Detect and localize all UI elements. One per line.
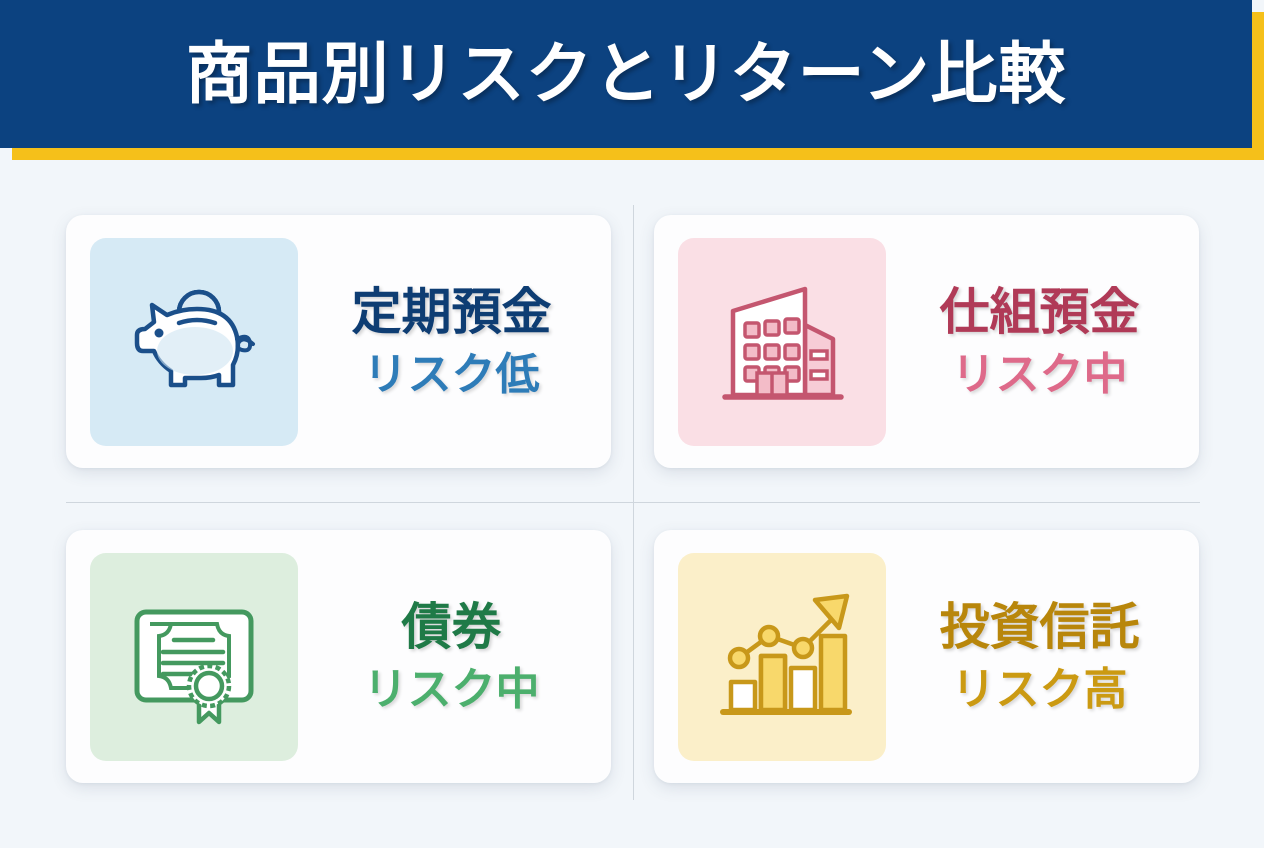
office-building-icon: [707, 267, 857, 417]
card-title: 仕組預金: [940, 287, 1140, 337]
header: 商品別リスクとリターン比較: [0, 0, 1264, 175]
icon-tile-deposit: [90, 238, 298, 446]
card-investment-trust[interactable]: 投資信託 リスク高: [654, 530, 1199, 783]
icon-tile-structured: [678, 238, 886, 446]
card-text-structured: 仕組預金 リスク中: [886, 287, 1199, 397]
page-title: 商品別リスクとリターン比較: [186, 41, 1067, 108]
card-text-fund: 投資信託 リスク高: [886, 602, 1199, 712]
header-band: 商品別リスクとリターン比較: [0, 0, 1252, 148]
icon-tile-fund: [678, 553, 886, 761]
card-text-bond: 債券 リスク中: [298, 602, 611, 712]
risk-label: リスク低: [364, 353, 540, 397]
certificate-icon: [119, 582, 269, 732]
growth-chart-icon: [707, 582, 857, 732]
card-title: 債券: [402, 602, 502, 652]
card-title: 投資信託: [940, 602, 1140, 652]
card-bond[interactable]: 債券 リスク中: [66, 530, 611, 783]
card-structured-deposit[interactable]: 仕組預金 リスク中: [654, 215, 1199, 468]
card-deposit[interactable]: 定期預金 リスク低: [66, 215, 611, 468]
cards-grid: 定期預金 リスク低: [0, 175, 1264, 848]
risk-label: リスク中: [952, 353, 1128, 397]
piggy-bank-icon: [119, 267, 269, 417]
risk-label: リスク中: [364, 668, 540, 712]
card-text-deposit: 定期預金 リスク低: [298, 287, 611, 397]
grid-divider-horizontal: [66, 502, 1200, 503]
card-title: 定期預金: [352, 287, 552, 337]
icon-tile-bond: [90, 553, 298, 761]
risk-label: リスク高: [952, 668, 1128, 712]
